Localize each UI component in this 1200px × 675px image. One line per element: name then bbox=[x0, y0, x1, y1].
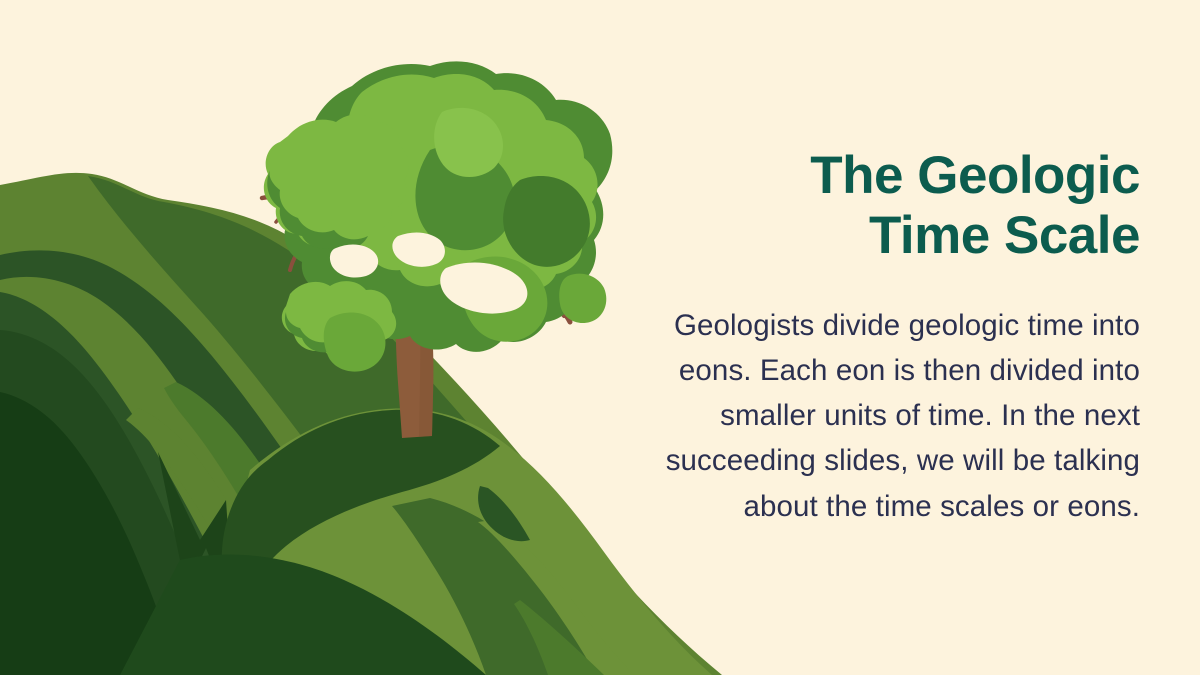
slide-canvas: The Geologic Time Scale Geologists divid… bbox=[0, 0, 1200, 675]
hillside-illustration bbox=[0, 0, 1200, 675]
